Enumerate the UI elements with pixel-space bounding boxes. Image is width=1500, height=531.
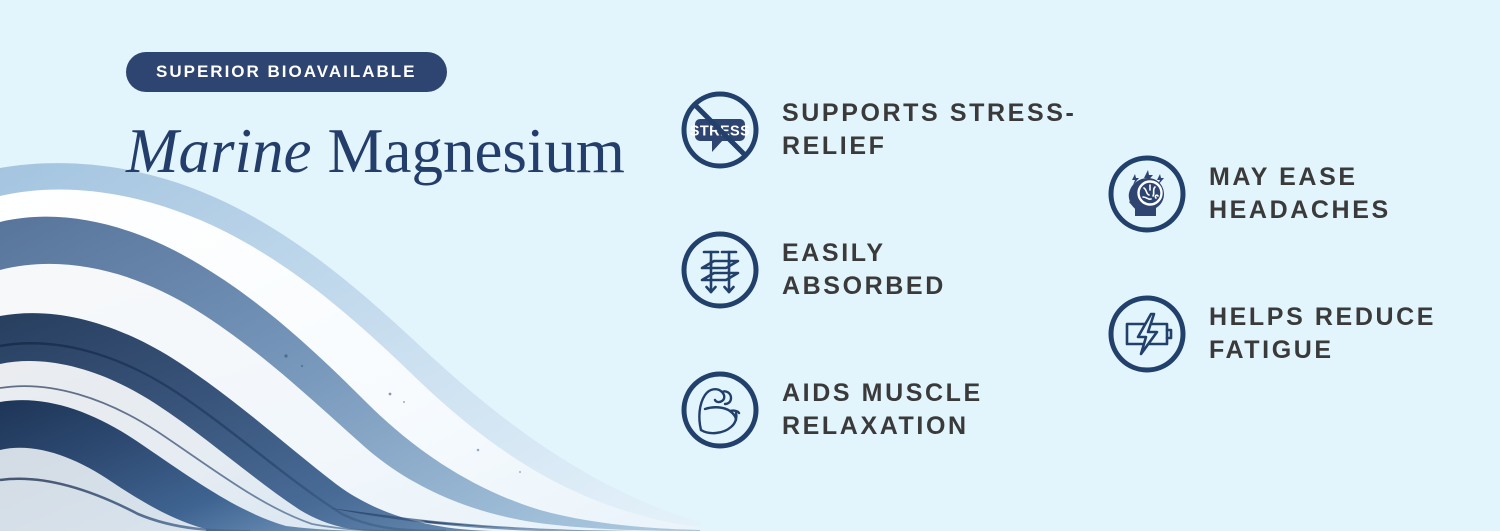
head-lightning-icon xyxy=(1105,152,1189,236)
benefit-label: AIDS MUSCLE RELAXATION xyxy=(782,377,983,443)
marine-magnesium-banner: SUPERIOR BIOAVAILABLE MarineMagnesium ST… xyxy=(0,0,1500,531)
benefit-column-right: MAY EASE HEADACHES HELPS REDUCE FATIGUE xyxy=(1105,152,1495,376)
battery-bolt-icon xyxy=(1105,292,1189,376)
watercolor-wave-artwork xyxy=(0,150,700,531)
page-title: MarineMagnesium xyxy=(126,118,625,184)
benefit-item-stress-relief: STRESS SUPPORTS STRESS- RELIEF xyxy=(678,88,1078,172)
benefit-item-ease-headaches: MAY EASE HEADACHES xyxy=(1105,152,1495,236)
absorption-icon xyxy=(678,228,762,312)
benefit-item-reduce-fatigue: HELPS REDUCE FATIGUE xyxy=(1105,292,1495,376)
benefit-label: SUPPORTS STRESS- RELIEF xyxy=(782,97,1076,163)
benefit-label-line1: HELPS REDUCE xyxy=(1209,303,1436,331)
benefit-label-line2: ABSORBED xyxy=(782,272,946,300)
benefit-label-line2: HEADACHES xyxy=(1209,196,1391,224)
benefit-label-line1: SUPPORTS STRESS- xyxy=(782,99,1076,127)
superior-bioavailable-badge: SUPERIOR BIOAVAILABLE xyxy=(126,52,447,92)
headline-block: SUPERIOR BIOAVAILABLE MarineMagnesium xyxy=(126,52,625,184)
no-stress-icon: STRESS xyxy=(678,88,762,172)
benefit-label-line2: RELAXATION xyxy=(782,412,969,440)
benefit-label-line1: AIDS MUSCLE xyxy=(782,379,983,407)
benefit-label: HELPS REDUCE FATIGUE xyxy=(1209,301,1436,367)
flexed-bicep-icon xyxy=(678,368,762,452)
benefit-label-line2: RELIEF xyxy=(782,132,887,160)
title-word-marine: Marine xyxy=(126,116,311,186)
benefit-label-line2: FATIGUE xyxy=(1209,336,1334,364)
benefit-label: MAY EASE HEADACHES xyxy=(1209,161,1391,227)
benefit-item-easily-absorbed: EASILY ABSORBED xyxy=(678,228,1078,312)
benefit-label-line1: EASILY xyxy=(782,239,886,267)
title-word-magnesium: Magnesium xyxy=(327,116,624,186)
benefit-label-line1: MAY EASE xyxy=(1209,163,1358,191)
benefit-item-muscle-relaxation: AIDS MUSCLE RELAXATION xyxy=(678,368,1078,452)
benefit-label: EASILY ABSORBED xyxy=(782,237,946,303)
benefit-column-middle: STRESS SUPPORTS STRESS- RELIEF xyxy=(678,88,1078,452)
